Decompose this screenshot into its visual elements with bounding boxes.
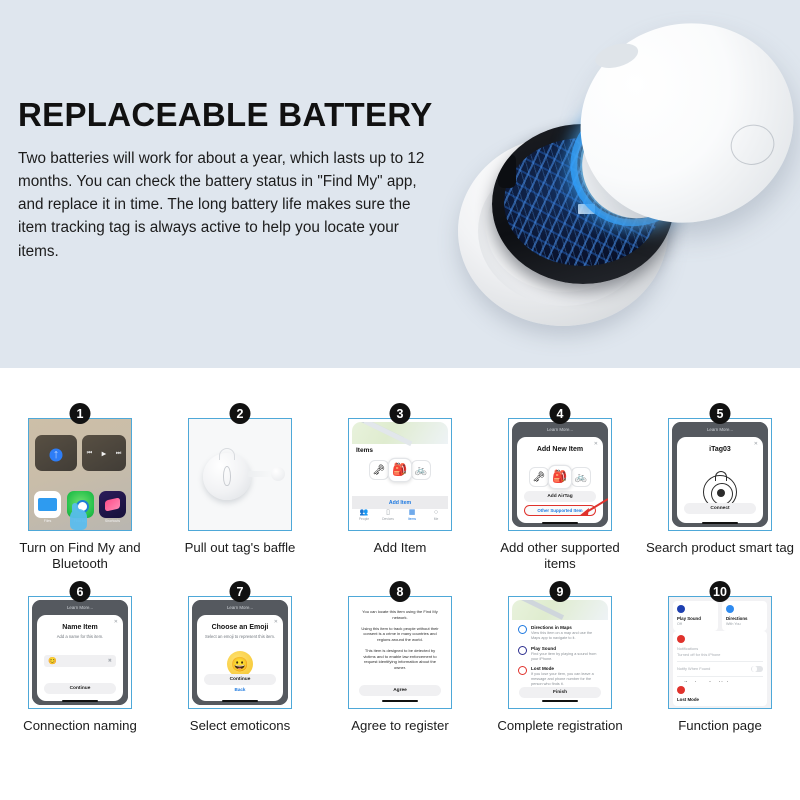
map-road — [364, 422, 413, 446]
red-arrow-icon — [575, 498, 608, 516]
item-icon-group: 🗝 🎒 🚲 — [517, 467, 603, 487]
function-cards: Play Sound Off Directions With You — [673, 601, 767, 631]
card-value: With You — [726, 622, 763, 626]
card-title: Directions — [726, 616, 763, 621]
function-page-screen: Play Sound Off Directions With You — [669, 597, 771, 708]
step-badge-5: 5 — [710, 403, 731, 424]
previous-icon[interactable]: ⏮ — [87, 450, 92, 457]
step-panel-5: Learn More... ✕ iTag03 Connect — [668, 418, 772, 531]
close-icon[interactable]: ✕ — [114, 619, 118, 625]
hero-text-block: REPLACEABLE BATTERY Two batteries will w… — [18, 98, 428, 263]
learn-more-link[interactable]: Learn More... — [32, 605, 128, 610]
steps-row-top: 1 ᛏ ⏮ ▶ ⏭ — [0, 368, 800, 572]
learn-more-link[interactable]: Learn More... — [512, 427, 608, 432]
agree-button[interactable]: Agree — [359, 685, 441, 696]
tab-label: Items — [400, 517, 424, 521]
me-icon: ○ — [424, 509, 448, 516]
backpack-icon[interactable]: 🎒 — [388, 458, 412, 482]
play-sound-card[interactable]: Play Sound Off — [673, 601, 718, 631]
app-shortcuts[interactable]: Shortcuts — [99, 491, 126, 523]
legal-paragraph: This item is designed to be detected by … — [359, 648, 441, 671]
step-panel-1: ᛏ ⏮ ▶ ⏭ — [28, 418, 132, 531]
tab-devices[interactable]: ▯ Devices — [376, 509, 400, 521]
step-panel-2 — [188, 418, 292, 531]
feature-lost-mode: Lost Mode If you lose your item, you can… — [518, 666, 602, 687]
step-badge-7: 7 — [230, 581, 251, 602]
tab-label: People — [352, 517, 376, 521]
lost-mode-label: Lost Mode — [677, 697, 763, 702]
feature-desc: If you lose your item, you can leave a m… — [531, 672, 602, 687]
step-2: 2 Pull out tag's baffle — [160, 418, 320, 572]
cover-dimple — [726, 119, 779, 170]
finish-button[interactable]: Finish — [519, 687, 601, 698]
add-new-item-screen: Learn More... ✕ Add New Item 🗝 🎒 🚲 Add A… — [512, 422, 608, 527]
connectivity-widget[interactable]: ᛏ — [35, 435, 77, 471]
feature-desc: View this item on a map and use the Maps… — [531, 631, 602, 641]
name-input[interactable]: 😊 ✖ — [44, 655, 116, 667]
step-panel-9: Directions in Maps View this item on a m… — [508, 596, 612, 709]
card-title: Play Sound — [677, 616, 714, 621]
choose-emoji-screen: Learn More... ✕ Choose an Emoji Select a… — [192, 600, 288, 705]
step-caption-3: Add Item — [325, 540, 475, 556]
feature-play-sound: Play Sound Find your item by playing a s… — [518, 646, 602, 662]
directions-icon — [726, 605, 734, 613]
key-icon[interactable]: 🗝 — [369, 460, 389, 480]
step-3: 3 Items 🗝 🎒 🚲 — [320, 418, 480, 572]
continue-button[interactable]: Continue — [44, 683, 116, 694]
tab-items[interactable]: ▦ Items — [400, 509, 424, 521]
sheet-title: Name Item — [37, 624, 123, 631]
step-10: 10 Play Sound Off — [640, 596, 800, 734]
media-controls[interactable]: ⏮ ▶ ⏭ — [82, 450, 126, 457]
module-notch — [498, 154, 516, 188]
people-icon: 👥 — [352, 509, 376, 516]
product-exploded-view: CR2450 — [430, 6, 800, 368]
step-badge-3: 3 — [390, 403, 411, 424]
divider — [677, 661, 763, 662]
map-preview[interactable] — [512, 600, 608, 620]
name-item-sheet: ✕ Name Item Add a name for this item. 😊 … — [37, 615, 123, 701]
step-7: 7 Learn More... ✕ Choose an Emoji Select… — [160, 596, 320, 734]
step-panel-7: Learn More... ✕ Choose an Emoji Select a… — [188, 596, 292, 709]
feature-directions: Directions in Maps View this item on a m… — [518, 625, 602, 641]
hero-section: REPLACEABLE BATTERY Two batteries will w… — [0, 0, 800, 368]
lost-mode-icon — [518, 666, 527, 675]
continue-button[interactable]: Continue — [204, 674, 276, 685]
step-8: 8 You can locate this item using the Fin… — [320, 596, 480, 734]
feature-desc: Find your item by playing a sound from y… — [531, 652, 602, 662]
step-panel-4: Learn More... ✕ Add New Item 🗝 🎒 🚲 Add A… — [508, 418, 612, 531]
item-icon-group: 🗝 🎒 🚲 — [352, 460, 448, 480]
step-caption-5: Search product smart tag — [645, 540, 795, 556]
tab-me[interactable]: ○ Me — [424, 509, 448, 521]
notify-toggle[interactable] — [751, 666, 763, 673]
find-my-items-screen: Items 🗝 🎒 🚲 Add Item 👥 People — [352, 422, 448, 527]
feature-title: Lost Mode — [531, 666, 602, 671]
tab-bar: 👥 People ▯ Devices ▦ Items — [352, 509, 448, 521]
input-value: 😊 — [48, 657, 57, 665]
sheet-title: Add New Item — [517, 446, 603, 453]
step-badge-1: 1 — [70, 403, 91, 424]
bluetooth-icon[interactable]: ᛏ — [50, 449, 63, 462]
step-panel-6: Learn More... ✕ Name Item Add a name for… — [28, 596, 132, 709]
step-caption-6: Connection naming — [5, 718, 155, 734]
choose-emoji-sheet: ✕ Choose an Emoji Select an emoji to rep… — [197, 615, 283, 701]
step-panel-10: Play Sound Off Directions With You — [668, 596, 772, 709]
battery-baffle-strip — [247, 471, 281, 477]
notify-when-found-row[interactable]: Notify When Found — [677, 666, 763, 673]
step-caption-8: Agree to register — [325, 718, 475, 734]
map-preview[interactable] — [352, 422, 448, 444]
step-caption-1: Turn on Find My and Bluetooth — [5, 540, 155, 572]
steps-section: 1 ᛏ ⏮ ▶ ⏭ — [0, 368, 800, 800]
registration-complete-screen: Directions in Maps View this item on a m… — [512, 600, 608, 705]
notifications-sub: Turned off for this iPhone — [677, 652, 763, 657]
control-center-screen: ᛏ ⏮ ▶ ⏭ — [29, 419, 131, 530]
step-badge-8: 8 — [390, 581, 411, 602]
step-4: 4 Learn More... ✕ Add New Item 🗝 🎒 — [480, 418, 640, 572]
step-caption-2: Pull out tag's baffle — [165, 540, 315, 556]
connect-button[interactable]: Connect — [684, 503, 756, 514]
close-icon[interactable]: ✕ — [274, 619, 278, 625]
items-icon: ▦ — [400, 509, 424, 516]
notify-when-found-label: Notify When Found — [677, 666, 710, 671]
feature-title: Play Sound — [531, 646, 602, 651]
tag-keyring-icon — [219, 448, 235, 460]
learn-more-link[interactable]: Learn More... — [192, 605, 288, 610]
backpack-icon: 🎒 — [548, 465, 572, 489]
infographic-page: REPLACEABLE BATTERY Two batteries will w… — [0, 0, 800, 800]
directions-card[interactable]: Directions With You — [722, 601, 767, 631]
step-9: 9 Directions in Maps View this item on a… — [480, 596, 640, 734]
media-widget[interactable]: ⏮ ▶ ⏭ — [82, 435, 126, 471]
app-files[interactable]: Files — [34, 491, 61, 523]
hero-description: Two batteries will work for about a year… — [18, 147, 428, 263]
tab-label: Devices — [376, 517, 400, 521]
directions-icon — [518, 625, 527, 634]
bike-icon: 🚲 — [571, 467, 591, 487]
step-badge-10: 10 — [710, 581, 731, 602]
close-icon[interactable]: ✕ — [754, 441, 758, 447]
home-indicator — [382, 700, 418, 702]
agreement-screen: You can locate this item using the Find … — [352, 600, 448, 705]
lost-mode-block[interactable]: Lost Mode — [673, 682, 767, 706]
bike-icon[interactable]: 🚲 — [411, 460, 431, 480]
map-road — [512, 600, 564, 620]
step-badge-6: 6 — [70, 581, 91, 602]
step-caption-9: Complete registration — [485, 718, 635, 734]
step-badge-9: 9 — [550, 581, 571, 602]
play-sound-icon — [518, 646, 527, 655]
sheet-subtitle: Select an emoji to represent this item. — [197, 634, 283, 640]
tag-baffle-illustration — [189, 419, 291, 530]
files-icon[interactable] — [34, 491, 61, 518]
tap-hand-icon — [70, 509, 87, 530]
step-panel-3: Items 🗝 🎒 🚲 Add Item 👥 People — [348, 418, 452, 531]
app-label: Shortcuts — [99, 519, 126, 523]
next-icon[interactable]: ⏭ — [116, 450, 121, 457]
legal-text: You can locate this item using the Find … — [359, 609, 441, 676]
card-value: Off — [677, 622, 714, 626]
clear-icon[interactable]: ✖ — [108, 658, 112, 664]
lost-mode-icon — [677, 686, 685, 694]
devices-icon: ▯ — [376, 509, 400, 516]
home-indicator — [542, 700, 578, 702]
divider — [677, 676, 763, 677]
items-heading: Items — [356, 447, 373, 454]
step-caption-10: Function page — [645, 718, 795, 734]
step-badge-2: 2 — [230, 403, 251, 424]
key-icon: 🗝 — [529, 467, 549, 487]
connect-sheet: ✕ iTag03 Connect — [677, 437, 763, 523]
step-5: 5 Learn More... ✕ iTag03 Connec — [640, 418, 800, 572]
tag-logo-glyph — [223, 466, 231, 486]
back-link[interactable]: Back — [197, 687, 283, 692]
notifications-icon — [677, 635, 685, 643]
tab-people[interactable]: 👥 People — [352, 509, 376, 521]
step-caption-4: Add other supported items — [485, 540, 635, 572]
add-item-button[interactable]: Add Item — [352, 496, 448, 509]
tag-keyring-icon — [715, 471, 727, 481]
app-label: Files — [34, 519, 61, 523]
close-icon[interactable]: ✕ — [594, 441, 598, 447]
learn-more-link[interactable]: Learn More... — [672, 427, 768, 432]
step-badge-4: 4 — [550, 403, 571, 424]
tag-name: iTag03 — [677, 446, 763, 453]
cover-keyring-tab — [593, 39, 641, 72]
play-icon[interactable]: ▶ — [102, 450, 107, 457]
legal-paragraph: Using this item to track people without … — [359, 626, 441, 643]
tab-label: Me — [424, 517, 448, 521]
page-title: REPLACEABLE BATTERY — [18, 98, 428, 133]
step-6: 6 Learn More... ✕ Name Item Add a name f… — [0, 596, 160, 734]
sheet-subtitle: Add a name for this item. — [37, 634, 123, 640]
name-item-screen: Learn More... ✕ Name Item Add a name for… — [32, 600, 128, 705]
legal-paragraph: You can locate this item using the Find … — [359, 609, 441, 620]
tracker-tag — [203, 453, 251, 500]
step-1: 1 ᛏ ⏮ ▶ ⏭ — [0, 418, 160, 572]
step-panel-8: You can locate this item using the Find … — [348, 596, 452, 709]
steps-row-bottom: 6 Learn More... ✕ Name Item Add a name f… — [0, 572, 800, 734]
play-sound-icon — [677, 605, 685, 613]
connect-tag-screen: Learn More... ✕ iTag03 Connect — [672, 422, 768, 527]
sheet-title: Choose an Emoji — [197, 624, 283, 631]
step-caption-7: Select emoticons — [165, 718, 315, 734]
feature-title: Directions in Maps — [531, 625, 602, 630]
shortcuts-icon[interactable] — [99, 491, 126, 518]
